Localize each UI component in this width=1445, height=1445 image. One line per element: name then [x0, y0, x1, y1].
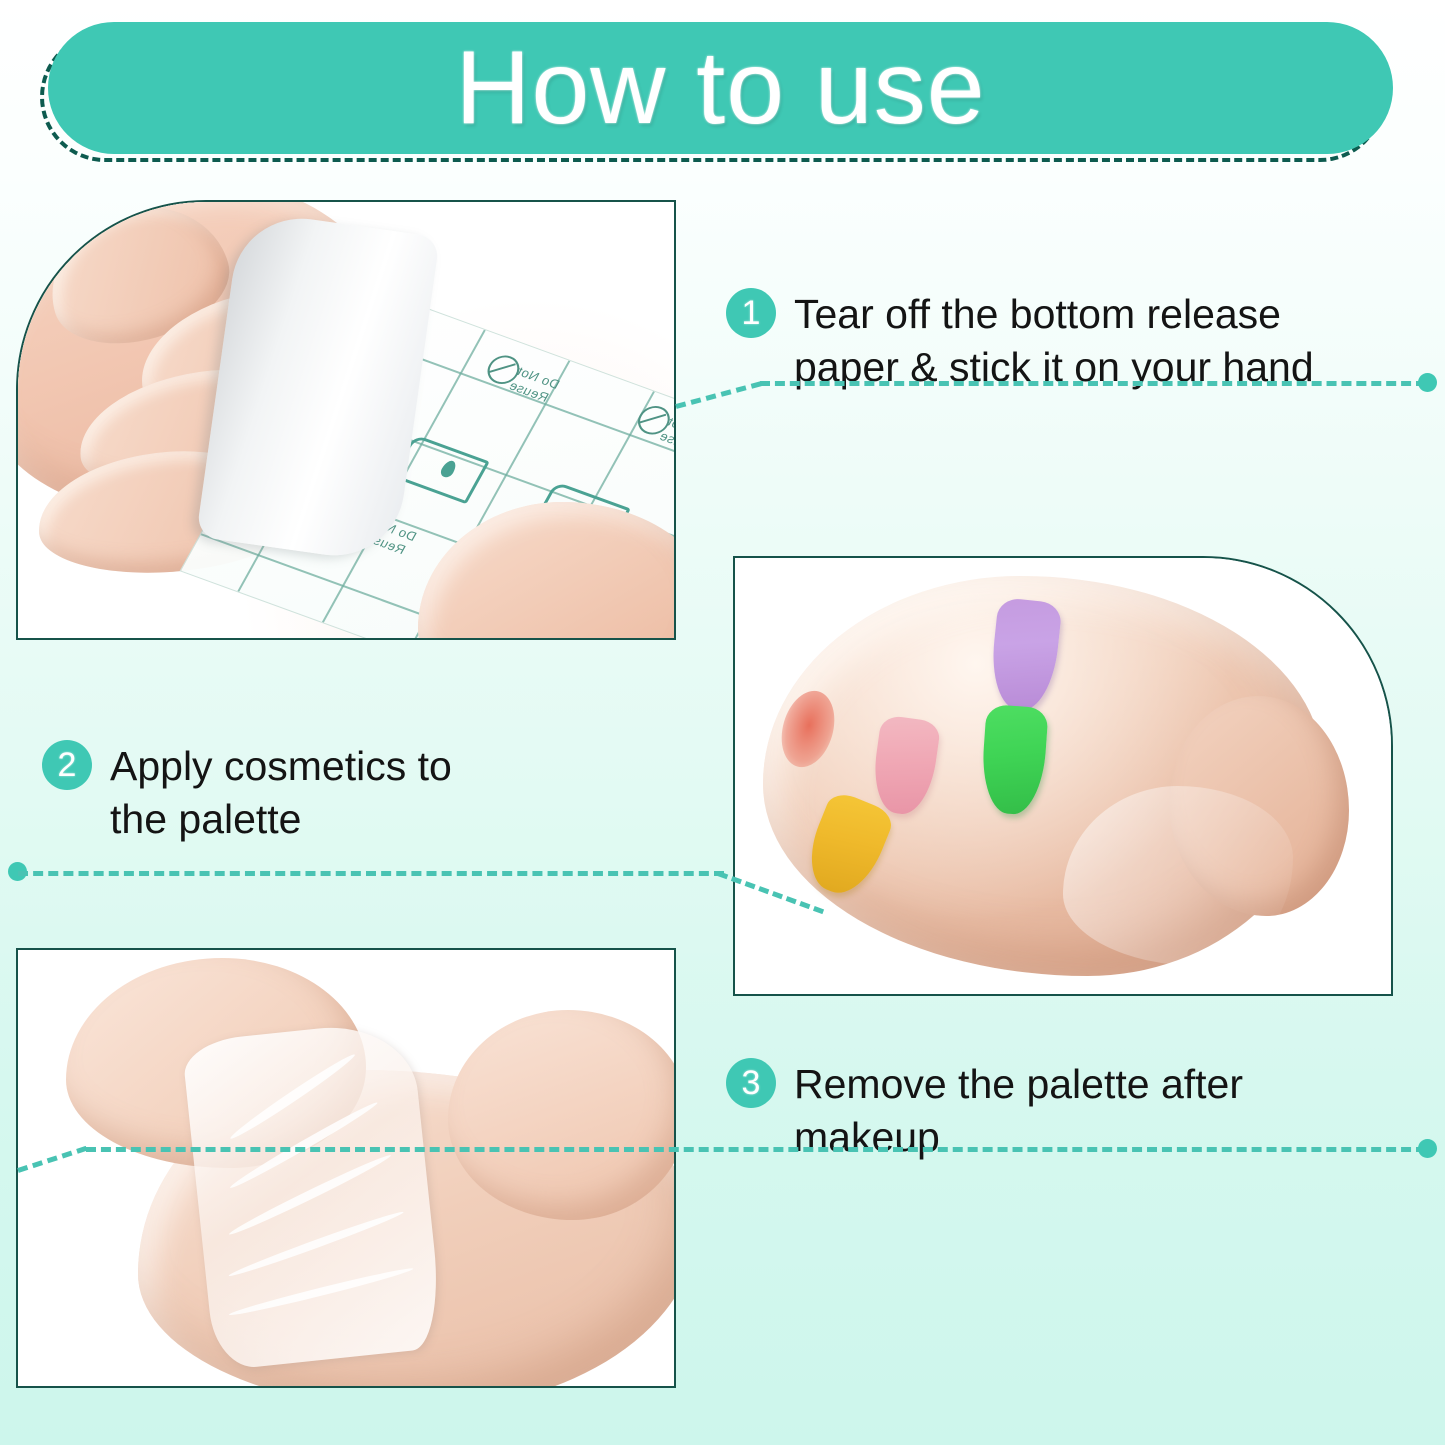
photo-2-scene: [735, 558, 1391, 994]
connector-2-line: [18, 871, 724, 876]
photo-peel-release-paper: Do Not Reuse Do Not Reuse Do Not Reuse: [16, 200, 676, 640]
step-2-badge: 2: [42, 740, 92, 790]
page-title: How to use: [455, 36, 985, 140]
fist-shape-right: [448, 1010, 676, 1220]
film-sheen: [1063, 786, 1293, 966]
connector-1-line: [760, 381, 1426, 386]
connector-3-endpoint-dot: [1418, 1139, 1437, 1158]
step-1: 1 Tear off the bottom release paper & st…: [726, 288, 1426, 394]
photo-1-scene: Do Not Reuse Do Not Reuse Do Not Reuse: [18, 202, 674, 638]
photo-3-scene: [18, 950, 674, 1386]
step-2: 2 Apply cosmetics to the palette: [42, 740, 602, 846]
connector-3-line: [86, 1147, 1426, 1152]
film-crease: [228, 1265, 414, 1319]
header-banner: How to use: [40, 22, 1393, 162]
film-crease: [228, 1099, 380, 1192]
step-1-badge: 1: [726, 288, 776, 338]
connector-1-endpoint-dot: [1418, 373, 1437, 392]
connector-1-slope: [675, 381, 761, 409]
step-1-text: Tear off the bottom release paper & stic…: [794, 288, 1314, 394]
peeling-film: [181, 1019, 444, 1371]
step-2-text: Apply cosmetics to the palette: [110, 740, 452, 846]
banner-fill: How to use: [48, 22, 1393, 154]
infographic-canvas: How to use Do Not Reuse: [0, 0, 1445, 1445]
step-3-badge: 3: [726, 1058, 776, 1108]
photo-cosmetic-swatches: [733, 556, 1393, 996]
photo-remove-palette: [16, 948, 676, 1388]
